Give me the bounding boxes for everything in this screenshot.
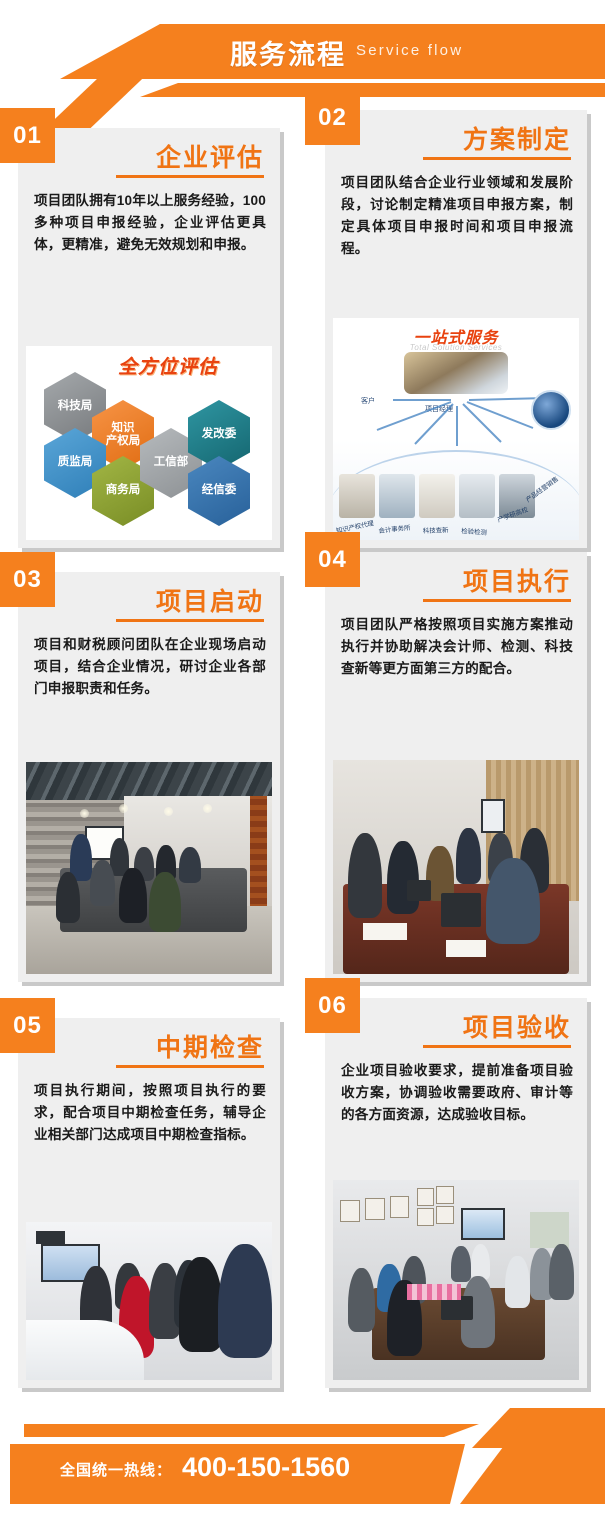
infographic-title: 全方位评估 (118, 352, 218, 379)
title-underline (116, 619, 264, 622)
step-title: 项目启动 (156, 582, 264, 618)
step-title: 方案制定 (463, 120, 571, 156)
title-underline (423, 1045, 571, 1048)
step-card-01[interactable]: 01 企业评估 项目团队拥有10年以上服务经验，100多种项目申报经验，企业评估… (18, 128, 280, 548)
step-description: 项目执行期间，按照项目执行的要求，配合项目中期检查任务，辅导企业相关部门达成项目… (34, 1080, 266, 1146)
step-number-badge: 02 (305, 90, 360, 145)
step-number-badge: 01 (0, 108, 55, 163)
step-card-02[interactable]: 02 方案制定 项目团队结合企业行业领域和发展阶段，讨论制定精准项目申报方案，制… (325, 110, 587, 548)
node-accounting-firm (379, 474, 415, 518)
yizhanshi-fuwu-infographic: 一站式服务 Total Solution Services 客户 项目经理 (333, 318, 579, 540)
node-tech-search (419, 474, 455, 518)
title-underline (423, 157, 571, 160)
step-number-badge: 03 (0, 552, 55, 607)
node-ip-agency (339, 474, 375, 518)
title-underline (423, 599, 571, 602)
step-title: 中期检查 (156, 1028, 264, 1064)
acceptance-meeting-photo (333, 1180, 579, 1380)
conference-room-kickoff-photo (26, 762, 272, 974)
caption-tech-search: 科技查新 (423, 525, 449, 535)
step-description: 项目团队结合企业行业领域和发展阶段，讨论制定精准项目申报方案，制定具体项目申报时… (341, 172, 573, 260)
page-title: 服务流程 (230, 33, 346, 72)
step-description: 项目和财税顾问团队在企业现场启动项目，结合企业情况，研讨企业各部门申报职责和任务… (34, 634, 266, 700)
step-description: 企业项目验收要求，提前准备项目验收方案，协调验收需要政府、审计等的各方面资源，达… (341, 1060, 573, 1126)
step-card-06[interactable]: 06 项目验收 企业项目验收要求，提前准备项目验收方案，协调验收需要政府、审计等… (325, 998, 587, 1388)
step-number-badge: 06 (305, 978, 360, 1033)
step-title: 项目执行 (463, 562, 571, 598)
service-flow-poster: 服务流程 Service flow 01 企业评估 项目团队拥有10年以上服务经… (0, 0, 605, 1538)
step-card-04[interactable]: 04 项目执行 项目团队严格按照项目实施方案推动执行并协助解决会计师、检测、科技… (325, 552, 587, 982)
title-underline (116, 1065, 264, 1068)
step-number-badge: 04 (305, 532, 360, 587)
certification-seal-icon (531, 390, 571, 430)
page-subtitle: Service flow (356, 42, 463, 59)
node-inspection (459, 474, 495, 518)
step-description: 项目团队严格按照项目实施方案推动执行并协助解决会计师、检测、科技查新等更方面第三… (341, 614, 573, 680)
hotline-label: 全国统一热线： (60, 1459, 172, 1480)
title-underline (116, 175, 264, 178)
caption-inspection: 检验检测 (461, 526, 487, 537)
step-description: 项目团队拥有10年以上服务经验，100多种项目申报经验，企业评估更具体，更精准，… (34, 190, 266, 256)
page-header: 服务流程 Service flow (0, 0, 605, 108)
team-working-laptops-photo (333, 760, 579, 974)
hotline-number[interactable]: 400-150-1560 (182, 1452, 350, 1483)
step-card-03[interactable]: 03 项目启动 项目和财税顾问团队在企业现场启动项目，结合企业情况，研讨企业各部… (18, 572, 280, 982)
step-card-05[interactable]: 05 中期检查 项目执行期间，按照项目执行的要求，配合项目中期检查任务，辅导企业… (18, 1018, 280, 1388)
showroom-visit-photo (26, 1222, 272, 1380)
quanfangwei-pinggu-infographic: 全方位评估 科技局 知识 产权局 质监局 商务局 工信部 发改委 经信委 (26, 346, 272, 540)
step-title: 项目验收 (463, 1008, 571, 1044)
step-title: 企业评估 (156, 138, 264, 174)
step-number-badge: 05 (0, 998, 55, 1053)
page-footer: 全国统一热线： 400-150-1560 (0, 1418, 605, 1538)
